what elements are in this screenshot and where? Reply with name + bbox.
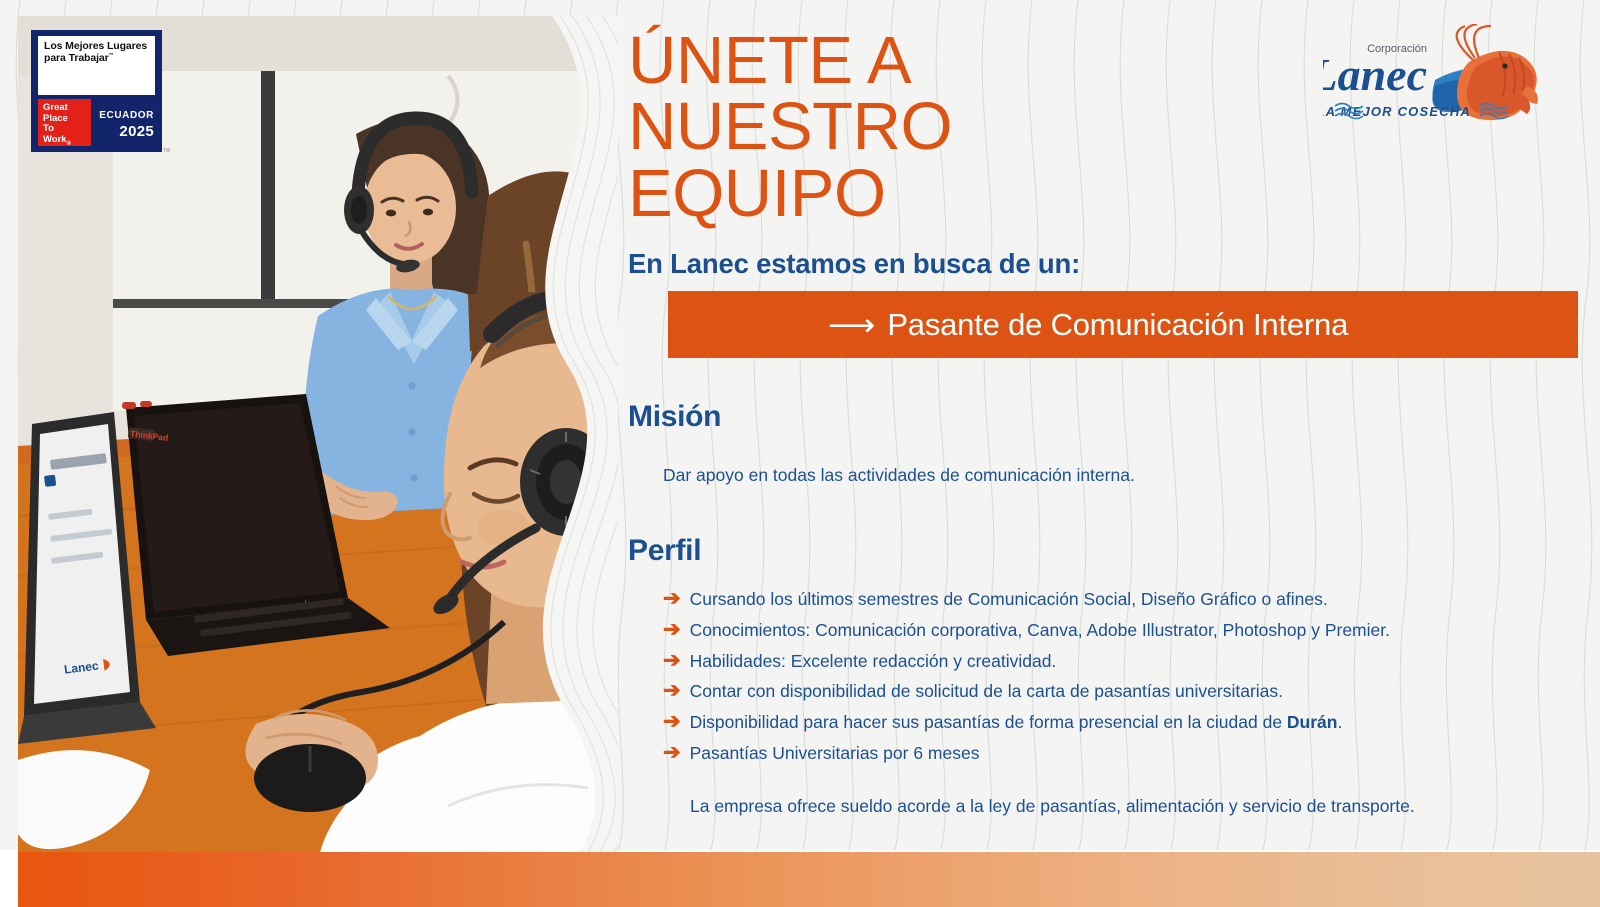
arrow-bullet-icon: ➔ [663, 588, 681, 609]
perfil-list-item: ➔Habilidades: Excelente redacción y crea… [663, 646, 1523, 677]
arrow-right-icon: ⟶ [828, 308, 873, 341]
gptw-brand-line-4: Work® [43, 135, 91, 148]
gptw-country: ECUADOR [99, 110, 154, 121]
gptw-registered-mark: ® [67, 141, 71, 147]
headline-line-1: ÚNETE A [628, 28, 1388, 94]
mision-text: Dar apoyo en todas las actividades de co… [663, 465, 1135, 486]
perfil-list-item-text: Pasantías Universitarias por 6 meses [690, 738, 980, 769]
gptw-corner-trademark: TM [163, 148, 170, 154]
arrow-bullet-icon: ➔ [663, 680, 681, 701]
subheading: En Lanec estamos en busca de un: [628, 248, 1080, 280]
role-banner: ⟶ Pasante de Comunicación Interna [668, 291, 1578, 358]
gptw-headline-box: Los Mejores Lugares para Trabajar™ [38, 36, 155, 95]
perfil-requirements-list: ➔Cursando los últimos semestres de Comun… [663, 584, 1523, 769]
perfil-list-item: ➔Contar con disponibilidad de solicitud … [663, 676, 1523, 707]
perfil-item-emphasis: Durán [1287, 712, 1338, 732]
great-place-to-work-badge: Los Mejores Lugares para Trabajar™ Great… [31, 30, 162, 152]
headline-line-3: EQUIPO [628, 161, 1388, 227]
perfil-list-item-text: Conocimientos: Comunicación corporativa,… [690, 615, 1390, 646]
perfil-list-item-text: Cursando los últimos semestres de Comuni… [690, 584, 1328, 615]
role-title: Pasante de Comunicación Interna [887, 307, 1348, 343]
main-headline: ÚNETE A NUESTRO EQUIPO [628, 28, 1388, 227]
arrow-bullet-icon: ➔ [663, 742, 681, 763]
perfil-list-item-text: Habilidades: Excelente redacción y creat… [690, 646, 1057, 677]
gptw-year: 2025 [119, 123, 154, 140]
perfil-list-item: ➔Disponibilidad para hacer sus pasantías… [663, 707, 1523, 738]
arrow-bullet-icon: ➔ [663, 619, 681, 640]
closing-text: La empresa ofrece sueldo acorde a la ley… [690, 790, 1420, 822]
lanec-logo: Corporación Lanec LA MEJOR COSECHA [1323, 24, 1538, 132]
headline-line-2: NUESTRO [628, 94, 1388, 160]
perfil-list-item: ➔Pasantías Universitarias por 6 meses [663, 738, 1523, 769]
gptw-brand-work: Work [43, 134, 67, 145]
gptw-headline-text: Los Mejores Lugares para Trabajar [44, 40, 147, 64]
gptw-trademark: ™ [109, 52, 114, 58]
job-posting-poster: Lanec ThinkPad lenovo [0, 0, 1600, 907]
gptw-headline: Los Mejores Lugares para Trabajar™ [44, 41, 150, 65]
gptw-brand-box: Great Place To Work® [38, 99, 91, 146]
bottom-gradient-bar [18, 852, 1600, 907]
arrow-bullet-icon: ➔ [663, 711, 681, 732]
perfil-section-title: Perfil [628, 534, 701, 568]
logo-tagline: LA MEJOR COSECHA [1323, 104, 1471, 119]
logo-wordmark: Lanec [1323, 49, 1427, 100]
perfil-list-item-text: Disponibilidad para hacer sus pasantías … [690, 707, 1343, 738]
arrow-bullet-icon: ➔ [663, 650, 681, 671]
perfil-list-item: ➔Cursando los últimos semestres de Comun… [663, 584, 1523, 615]
perfil-list-item: ➔Conocimientos: Comunicación corporativa… [663, 615, 1523, 646]
mision-section-title: Misión [628, 400, 721, 434]
perfil-list-item-text: Contar con disponibilidad de solicitud d… [690, 676, 1283, 707]
